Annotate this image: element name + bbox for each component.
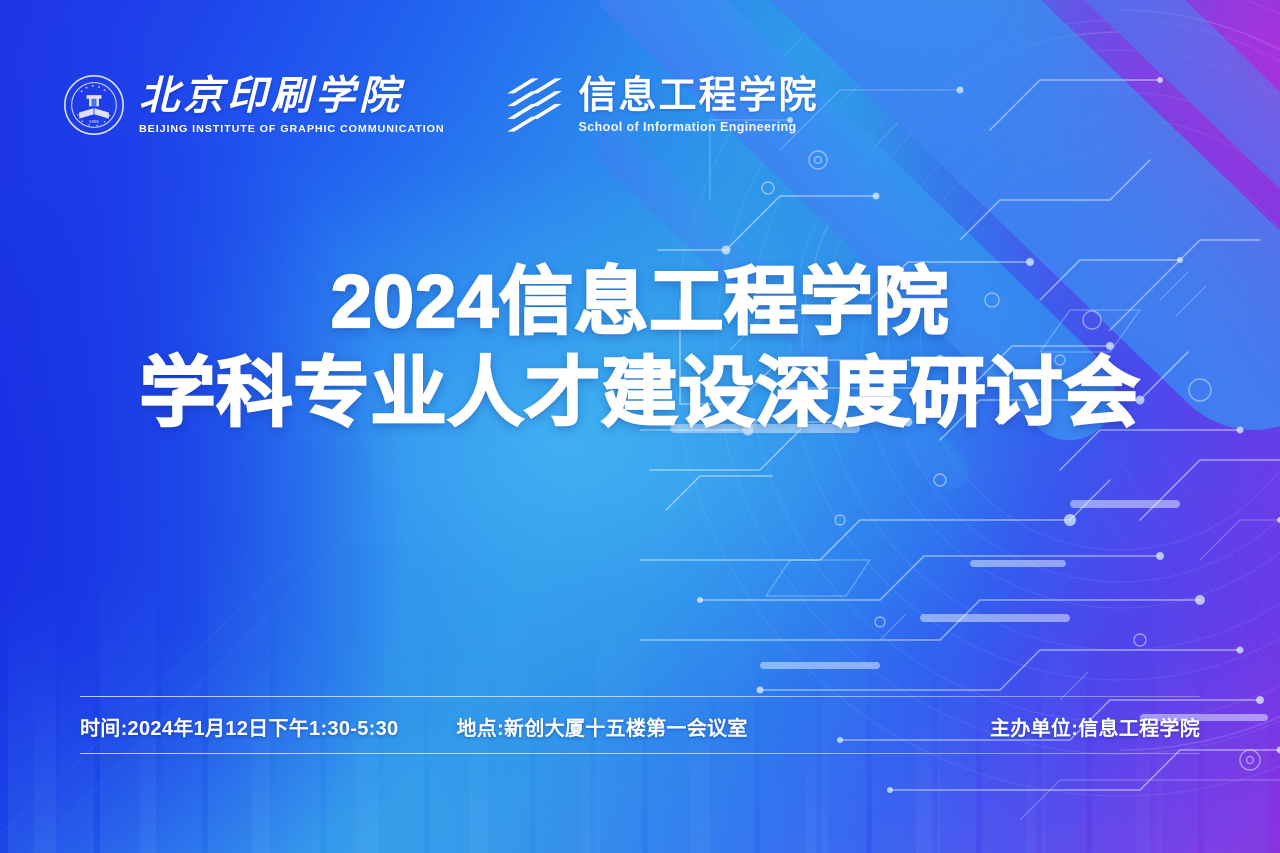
svg-text:1958: 1958 bbox=[89, 119, 99, 124]
logo-row: 1958 北京印刷学院 BEIJING INSTITUTE OF GRAPHIC… bbox=[63, 74, 819, 136]
bigc-text-block: 北京印刷学院 BEIJING INSTITUTE OF GRAPHIC COMM… bbox=[139, 76, 439, 135]
banner-footer: 时间:2024年1月12日下午1:30-5:30 地点:新创大厦十五楼第一会议室… bbox=[0, 683, 1280, 853]
footer-organizer: 主办单位:信息工程学院 bbox=[990, 712, 1200, 741]
bigc-logo: 1958 北京印刷学院 BEIJING INSTITUTE OF GRAPHIC… bbox=[63, 74, 439, 136]
title-line-2: 学科专业人才建设深度研讨会 bbox=[0, 353, 1280, 434]
bigc-name-cn: 北京印刷学院 bbox=[139, 76, 403, 116]
footer-rule-bottom bbox=[80, 753, 1200, 754]
sie-logo: 信息工程学院 School of Information Engineering bbox=[505, 77, 819, 134]
diagonal-stripes-mark-icon bbox=[505, 77, 563, 133]
bigc-name-en: BEIJING INSTITUTE OF GRAPHIC COMMUNICATI… bbox=[139, 123, 445, 135]
university-seal-icon: 1958 bbox=[63, 74, 125, 136]
footer-time: 时间:2024年1月12日下午1:30-5:30 bbox=[80, 712, 398, 741]
footer-rule-top bbox=[80, 696, 1200, 697]
title-line-1: 2024信息工程学院 bbox=[0, 262, 1280, 341]
banner-title: 2024信息工程学院 学科专业人才建设深度研讨会 bbox=[0, 262, 1280, 434]
sie-name-cn: 信息工程学院 bbox=[579, 77, 819, 115]
footer-items: 时间:2024年1月12日下午1:30-5:30 地点:新创大厦十五楼第一会议室… bbox=[80, 703, 1200, 749]
sie-name-en: School of Information Engineering bbox=[579, 120, 797, 134]
conference-banner: 1958 北京印刷学院 BEIJING INSTITUTE OF GRAPHIC… bbox=[0, 0, 1280, 853]
sie-text-block: 信息工程学院 School of Information Engineering bbox=[579, 77, 819, 134]
footer-place: 地点:新创大厦十五楼第一会议室 bbox=[456, 712, 747, 741]
